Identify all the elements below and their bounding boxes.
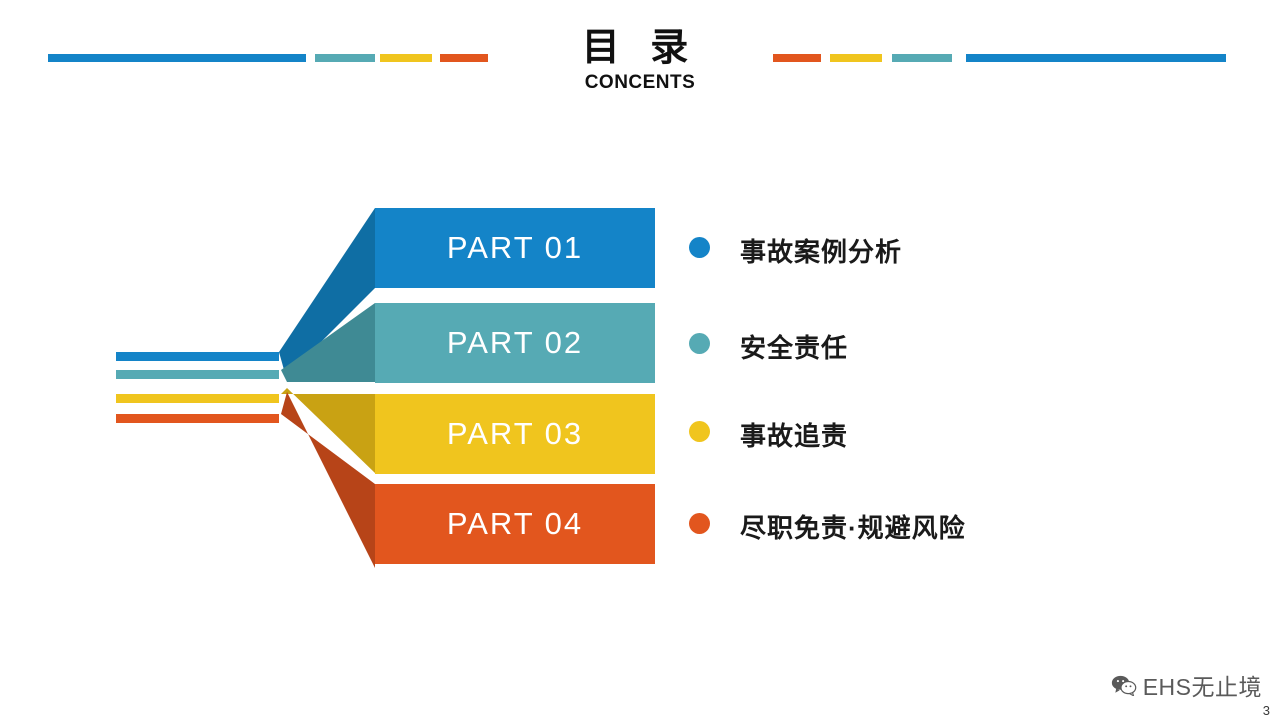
- ribbon-blue: [279, 208, 375, 377]
- agenda-content: PART 01 事故案例分析 PART 02 安全责任 PART 03 事故追责…: [0, 0, 1280, 720]
- agenda-item-3[interactable]: PART 03: [375, 394, 655, 474]
- agenda-item-1-desc: 事故案例分析: [740, 232, 902, 269]
- agenda-item-2-desc: 安全责任: [740, 328, 848, 365]
- agenda-item-4[interactable]: PART 04: [375, 484, 655, 564]
- agenda-item-2[interactable]: PART 02: [375, 303, 655, 383]
- agenda-item-4-label: PART 04: [375, 484, 655, 564]
- agenda-item-2-label: PART 02: [375, 303, 655, 383]
- agenda-item-4-desc: 尽职免责·规避风险: [740, 508, 966, 545]
- footer-brand: EHS无止境: [1111, 668, 1262, 702]
- wechat-icon: [1111, 674, 1137, 696]
- page-number: 3: [1263, 703, 1270, 718]
- tail-bar-blue: [116, 352, 279, 361]
- ribbon-teal: [281, 303, 375, 382]
- ribbon-orange: [281, 392, 375, 568]
- tail-bar-yellow: [116, 394, 279, 403]
- tail-bar-orange: [116, 414, 279, 423]
- agenda-bullet-2: [689, 333, 710, 354]
- agenda-bullet-4: [689, 513, 710, 534]
- ribbon-yellow: [281, 388, 375, 473]
- agenda-bullet-3: [689, 421, 710, 442]
- tail-bar-teal: [116, 370, 279, 379]
- agenda-item-1-label: PART 01: [375, 208, 655, 288]
- agenda-item-3-desc: 事故追责: [740, 416, 848, 453]
- agenda-item-1[interactable]: PART 01: [375, 208, 655, 288]
- footer-brand-text: EHS无止境: [1143, 668, 1262, 702]
- agenda-bullet-1: [689, 237, 710, 258]
- agenda-item-3-label: PART 03: [375, 394, 655, 474]
